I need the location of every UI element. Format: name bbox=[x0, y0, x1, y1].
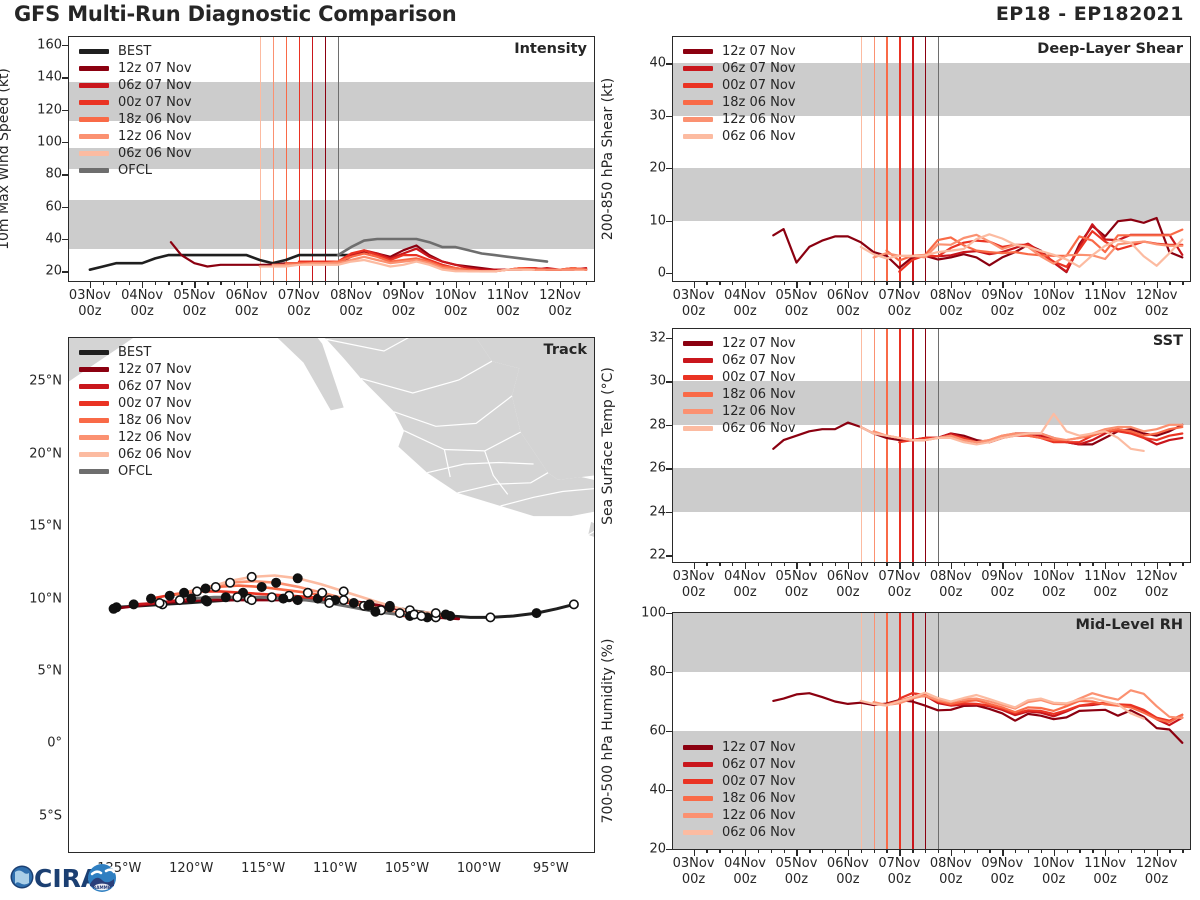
x-tick-minor bbox=[534, 281, 535, 285]
x-tick-minor bbox=[220, 281, 221, 285]
legend-label: 18z 06 Nov bbox=[722, 94, 796, 111]
x-tick-mark bbox=[951, 849, 952, 856]
x-tick-label-hour: 00z bbox=[785, 585, 808, 600]
x-tick-mark bbox=[848, 562, 849, 569]
x-tick-minor bbox=[181, 281, 182, 285]
x-tick-label-date: 03Nov bbox=[673, 569, 715, 584]
x-tick-minor bbox=[835, 562, 836, 566]
x-tick-label-date: 09Nov bbox=[981, 569, 1023, 584]
y-tick-mark bbox=[62, 77, 68, 78]
x-tick-minor bbox=[809, 281, 810, 285]
y-tick-label: 0 bbox=[630, 266, 666, 281]
x-tick-mark bbox=[1002, 562, 1003, 569]
x-tick-minor bbox=[168, 281, 169, 285]
y-tick-label: 60 bbox=[26, 199, 62, 214]
track-marker bbox=[248, 596, 256, 604]
x-tick-mark bbox=[1002, 281, 1003, 288]
x-tick-minor bbox=[886, 849, 887, 853]
x-tick-minor bbox=[706, 281, 707, 285]
legend-swatch-12z-06-nov bbox=[683, 117, 713, 122]
x-tick-label-hour: 00z bbox=[682, 872, 705, 887]
x-tick-label-hour: 00z bbox=[991, 304, 1014, 319]
x-tick-minor bbox=[155, 281, 156, 285]
lon-tick-label: 100°W bbox=[457, 861, 501, 876]
x-tick-minor bbox=[835, 849, 836, 853]
legend-label: BEST bbox=[118, 43, 151, 60]
x-tick-label-hour: 00z bbox=[548, 304, 571, 319]
track-marker bbox=[130, 600, 138, 608]
x-tick-minor bbox=[874, 849, 875, 853]
x-tick-label-hour: 00z bbox=[235, 304, 258, 319]
x-tick-minor bbox=[964, 562, 965, 566]
x-tick-minor bbox=[1092, 562, 1093, 566]
x-tick-minor bbox=[443, 281, 444, 285]
x-tick-minor bbox=[809, 562, 810, 566]
y-tick-mark bbox=[666, 672, 672, 673]
x-tick-minor bbox=[1079, 562, 1080, 566]
legend-label: 06z 06 Nov bbox=[722, 128, 796, 145]
legend-swatch-06z-07-nov bbox=[79, 83, 109, 88]
legend-swatch-00z-07-nov bbox=[683, 375, 713, 380]
x-tick-label-hour: 00z bbox=[444, 304, 467, 319]
y-tick-mark bbox=[666, 613, 672, 614]
x-tick-label-hour: 00z bbox=[183, 304, 206, 319]
x-tick-label-hour: 00z bbox=[287, 304, 310, 319]
y-tick-mark bbox=[666, 512, 672, 513]
y-tick-label: 80 bbox=[630, 665, 666, 680]
x-tick-minor bbox=[1169, 849, 1170, 853]
x-tick-minor bbox=[364, 281, 365, 285]
legend-label: OFCL bbox=[118, 162, 152, 179]
x-tick-label-date: 10Nov bbox=[1033, 569, 1075, 584]
legend-item: 12z 07 Nov bbox=[683, 335, 796, 352]
x-tick-label-hour: 00z bbox=[682, 585, 705, 600]
y-tick-mark bbox=[62, 174, 68, 175]
x-tick-minor bbox=[469, 281, 470, 285]
track-marker bbox=[371, 608, 379, 616]
legend-label: 12z 06 Nov bbox=[722, 111, 796, 128]
legend-item: 06z 07 Nov bbox=[79, 77, 192, 94]
x-tick-label-date: 11Nov bbox=[487, 288, 529, 303]
x-tick-label-date: 06Nov bbox=[226, 288, 268, 303]
x-tick-mark bbox=[1105, 562, 1106, 569]
legend-swatch-best bbox=[79, 350, 109, 355]
y-tick-label: 10 bbox=[630, 213, 666, 228]
x-tick-mark bbox=[694, 562, 695, 569]
x-tick-label-date: 09Nov bbox=[981, 856, 1023, 871]
svg-text:RAMMB: RAMMB bbox=[93, 885, 111, 890]
legend-label: 18z 06 Nov bbox=[722, 386, 796, 403]
y-tick-mark bbox=[666, 381, 672, 382]
legend-label: 18z 06 Nov bbox=[118, 412, 192, 429]
x-tick-minor bbox=[1144, 562, 1145, 566]
y-tick-label: 40 bbox=[630, 56, 666, 71]
x-tick-minor bbox=[1118, 562, 1119, 566]
legend-item: 00z 07 Nov bbox=[79, 395, 192, 412]
y-tick-label: 20 bbox=[630, 161, 666, 176]
x-tick-minor bbox=[1144, 849, 1145, 853]
legend-label: 00z 07 Nov bbox=[118, 94, 192, 111]
legend-swatch-12z-06-nov bbox=[79, 435, 109, 440]
legend-track: BEST12z 07 Nov06z 07 Nov00z 07 Nov18z 06… bbox=[79, 344, 192, 480]
x-tick-minor bbox=[886, 281, 887, 285]
track-marker bbox=[258, 583, 266, 591]
legend-item: 12z 06 Nov bbox=[79, 128, 192, 145]
x-tick-minor bbox=[377, 281, 378, 285]
x-tick-minor bbox=[1169, 562, 1170, 566]
track-marker bbox=[155, 599, 163, 607]
x-tick-label-date: 06Nov bbox=[827, 856, 869, 871]
x-tick-minor bbox=[719, 562, 720, 566]
legend-item: 12z 07 Nov bbox=[79, 60, 192, 77]
y-tick-label: 40 bbox=[26, 231, 62, 246]
x-tick-label-date: 10Nov bbox=[1033, 856, 1075, 871]
x-tick-minor bbox=[429, 281, 430, 285]
page-title: GFS Multi-Run Diagnostic Comparison bbox=[14, 2, 456, 26]
x-tick-label-date: 11Nov bbox=[1084, 569, 1126, 584]
x-tick-mark bbox=[194, 281, 195, 288]
x-tick-mark bbox=[899, 281, 900, 288]
x-tick-minor bbox=[1131, 849, 1132, 853]
x-tick-minor bbox=[234, 281, 235, 285]
y-tick-label: 160 bbox=[26, 38, 62, 53]
x-tick-minor bbox=[325, 281, 326, 285]
x-tick-minor bbox=[1182, 849, 1183, 853]
legend-swatch-06z-07-nov bbox=[683, 66, 713, 71]
track-marker bbox=[166, 592, 174, 600]
x-tick-mark bbox=[1054, 562, 1055, 569]
legend-label: 06z 07 Nov bbox=[118, 77, 192, 94]
x-tick-minor bbox=[1067, 849, 1068, 853]
x-tick-mark bbox=[1002, 849, 1003, 856]
legend-swatch-12z-06-nov bbox=[683, 813, 713, 818]
x-tick-minor bbox=[103, 281, 104, 285]
legend-swatch-00z-07-nov bbox=[79, 100, 109, 105]
track-marker bbox=[222, 593, 230, 601]
x-tick-mark bbox=[142, 281, 143, 288]
x-tick-label-hour: 00z bbox=[130, 304, 153, 319]
series-line-12z-07-nov bbox=[773, 218, 1182, 272]
track-marker bbox=[364, 602, 372, 610]
x-tick-minor bbox=[573, 281, 574, 285]
x-tick-label-date: 11Nov bbox=[1084, 856, 1126, 871]
x-tick-label-date: 10Nov bbox=[435, 288, 477, 303]
x-tick-label-hour: 00z bbox=[785, 304, 808, 319]
x-tick-label-date: 04Nov bbox=[724, 856, 766, 871]
x-tick-mark bbox=[1105, 281, 1106, 288]
y-tick-label: 32 bbox=[630, 330, 666, 345]
x-tick-mark bbox=[745, 562, 746, 569]
x-tick-minor bbox=[286, 281, 287, 285]
track-marker bbox=[325, 599, 333, 607]
x-tick-mark bbox=[848, 849, 849, 856]
x-tick-minor bbox=[861, 562, 862, 566]
x-tick-mark bbox=[694, 849, 695, 856]
legend-label: 12z 06 Nov bbox=[722, 807, 796, 824]
legend-item: 12z 07 Nov bbox=[683, 43, 796, 60]
legend-swatch-12z-07-nov bbox=[683, 49, 713, 54]
legend-swatch-12z-07-nov bbox=[79, 66, 109, 71]
legend-item: 06z 06 Nov bbox=[79, 446, 192, 463]
legend-item: 06z 07 Nov bbox=[79, 378, 192, 395]
y-tick-label: 80 bbox=[26, 167, 62, 182]
track-marker bbox=[272, 579, 280, 587]
x-tick-label-date: 07Nov bbox=[878, 288, 920, 303]
y-tick-mark bbox=[666, 63, 672, 64]
legend-swatch-12z-07-nov bbox=[683, 745, 713, 750]
x-tick-minor bbox=[732, 562, 733, 566]
x-tick-mark bbox=[848, 281, 849, 288]
y-tick-mark bbox=[62, 142, 68, 143]
x-tick-mark bbox=[1054, 849, 1055, 856]
y-tick-mark bbox=[666, 168, 672, 169]
legend-item: 00z 07 Nov bbox=[683, 773, 796, 790]
lon-tick-label: 110°W bbox=[313, 861, 357, 876]
x-tick-minor bbox=[273, 281, 274, 285]
legend-swatch-18z-06-nov bbox=[683, 100, 713, 105]
x-tick-mark bbox=[351, 281, 352, 288]
x-tick-minor bbox=[1028, 849, 1029, 853]
legend-swatch-00z-07-nov bbox=[79, 401, 109, 406]
legend-rh: 12z 07 Nov06z 07 Nov00z 07 Nov18z 06 Nov… bbox=[683, 739, 796, 841]
x-tick-label-date: 08Nov bbox=[930, 569, 972, 584]
x-tick-label-hour: 00z bbox=[836, 585, 859, 600]
x-tick-minor bbox=[1041, 281, 1042, 285]
x-tick-label-hour: 00z bbox=[1145, 585, 1168, 600]
x-tick-minor bbox=[207, 281, 208, 285]
y-tick-mark bbox=[666, 790, 672, 791]
panel-shear: Deep-Layer Shear12z 07 Nov06z 07 Nov00z … bbox=[672, 36, 1191, 282]
x-tick-label-date: 12Nov bbox=[1136, 856, 1178, 871]
x-tick-label-hour: 00z bbox=[939, 585, 962, 600]
x-tick-minor bbox=[977, 281, 978, 285]
y-tick-label: 20 bbox=[630, 842, 666, 857]
y-tick-label: 60 bbox=[630, 724, 666, 739]
x-tick-minor bbox=[1015, 849, 1016, 853]
x-tick-mark bbox=[560, 281, 561, 288]
x-tick-label-hour: 00z bbox=[339, 304, 362, 319]
legend-swatch-18z-06-nov bbox=[683, 796, 713, 801]
y-tick-mark bbox=[666, 849, 672, 850]
legend-swatch-18z-06-nov bbox=[79, 117, 109, 122]
legend-item: 18z 06 Nov bbox=[683, 386, 796, 403]
y-tick-label: 20 bbox=[26, 264, 62, 279]
y-tick-label: 100 bbox=[630, 606, 666, 621]
y-tick-mark bbox=[666, 468, 672, 469]
x-tick-mark bbox=[796, 562, 797, 569]
x-tick-minor bbox=[989, 849, 990, 853]
x-tick-mark bbox=[951, 281, 952, 288]
x-tick-minor bbox=[912, 281, 913, 285]
legend-label: 12z 07 Nov bbox=[722, 335, 796, 352]
y-tick-mark bbox=[666, 555, 672, 556]
x-tick-minor bbox=[1015, 281, 1016, 285]
x-tick-label-hour: 00z bbox=[1093, 872, 1116, 887]
x-tick-label-hour: 00z bbox=[682, 304, 705, 319]
y-tick-mark bbox=[62, 271, 68, 272]
x-tick-minor bbox=[861, 849, 862, 853]
x-tick-minor bbox=[771, 281, 772, 285]
x-tick-minor bbox=[1079, 281, 1080, 285]
x-tick-label-hour: 00z bbox=[888, 872, 911, 887]
panel-sst: SST12z 07 Nov06z 07 Nov00z 07 Nov18z 06 … bbox=[672, 328, 1191, 563]
x-tick-mark bbox=[1157, 849, 1158, 856]
lat-tick-label: 20°N bbox=[6, 446, 62, 461]
legend-swatch-18z-06-nov bbox=[79, 418, 109, 423]
x-tick-minor bbox=[1015, 562, 1016, 566]
legend-label: 06z 06 Nov bbox=[118, 145, 192, 162]
y-tick-mark bbox=[666, 425, 672, 426]
x-tick-label-date: 05Nov bbox=[775, 569, 817, 584]
x-tick-mark bbox=[1157, 562, 1158, 569]
x-tick-minor bbox=[719, 849, 720, 853]
x-tick-minor bbox=[706, 849, 707, 853]
x-tick-minor bbox=[1092, 849, 1093, 853]
legend-item: 12z 06 Nov bbox=[683, 403, 796, 420]
x-tick-label-hour: 00z bbox=[888, 304, 911, 319]
x-tick-mark bbox=[796, 849, 797, 856]
lon-tick-label: 115°W bbox=[241, 861, 285, 876]
legend-item: 00z 07 Nov bbox=[683, 369, 796, 386]
legend-item: 12z 07 Nov bbox=[683, 739, 796, 756]
lon-tick-label: 120°W bbox=[169, 861, 213, 876]
y-tick-mark bbox=[666, 731, 672, 732]
x-tick-minor bbox=[1041, 849, 1042, 853]
x-tick-mark bbox=[1157, 281, 1158, 288]
legend-swatch-18z-06-nov bbox=[683, 392, 713, 397]
x-tick-label-date: 12Nov bbox=[539, 288, 581, 303]
legend-swatch-12z-07-nov bbox=[79, 367, 109, 372]
x-tick-label-hour: 00z bbox=[496, 304, 519, 319]
track-marker bbox=[226, 579, 234, 587]
x-tick-minor bbox=[925, 849, 926, 853]
panel-title-sst: SST bbox=[1153, 333, 1183, 349]
legend-swatch-06z-06-nov bbox=[683, 830, 713, 835]
legend-item: 06z 06 Nov bbox=[79, 145, 192, 162]
x-tick-mark bbox=[508, 281, 509, 288]
x-tick-label-date: 03Nov bbox=[673, 288, 715, 303]
panel-intensity: IntensityBEST12z 07 Nov06z 07 Nov00z 07 … bbox=[68, 36, 595, 282]
x-tick-label-hour: 00z bbox=[1093, 585, 1116, 600]
x-tick-label-hour: 00z bbox=[1042, 872, 1065, 887]
legend-label: 00z 07 Nov bbox=[722, 77, 796, 94]
x-tick-minor bbox=[989, 281, 990, 285]
legend-item: 06z 07 Nov bbox=[683, 756, 796, 773]
track-marker bbox=[318, 589, 326, 597]
x-tick-minor bbox=[1041, 562, 1042, 566]
x-tick-label-date: 08Nov bbox=[330, 288, 372, 303]
lat-tick-label: 25°N bbox=[6, 374, 62, 389]
legend-item: 12z 06 Nov bbox=[79, 429, 192, 446]
legend-swatch-best bbox=[79, 49, 109, 54]
x-tick-minor bbox=[784, 281, 785, 285]
panel-track: TrackBEST12z 07 Nov06z 07 Nov00z 07 Nov1… bbox=[68, 337, 595, 853]
legend-label: 12z 07 Nov bbox=[722, 739, 796, 756]
y-axis-label-sst: Sea Surface Temp (°C) bbox=[600, 367, 616, 525]
x-tick-minor bbox=[312, 281, 313, 285]
x-tick-mark bbox=[247, 281, 248, 288]
y-axis-label-rh: 700-500 hPa Humidity (%) bbox=[600, 639, 616, 824]
legend-label: 12z 07 Nov bbox=[118, 60, 192, 77]
panel-title-intensity: Intensity bbox=[514, 41, 587, 57]
y-tick-label: 40 bbox=[630, 783, 666, 798]
y-tick-label: 24 bbox=[630, 504, 666, 519]
track-marker bbox=[340, 587, 348, 595]
legend-swatch-06z-06-nov bbox=[683, 134, 713, 139]
legend-label: 06z 07 Nov bbox=[722, 756, 796, 773]
legend-swatch-12z-06-nov bbox=[79, 134, 109, 139]
x-tick-minor bbox=[1182, 562, 1183, 566]
x-tick-label-hour: 00z bbox=[733, 872, 756, 887]
y-tick-mark bbox=[666, 116, 672, 117]
x-tick-label-date: 05Nov bbox=[775, 856, 817, 871]
series-line-06z-06-nov bbox=[861, 414, 1144, 451]
x-tick-label-date: 09Nov bbox=[382, 288, 424, 303]
legend-item: 06z 06 Nov bbox=[683, 824, 796, 841]
x-tick-mark bbox=[90, 281, 91, 288]
track-marker bbox=[432, 609, 440, 617]
x-tick-label-date: 07Nov bbox=[278, 288, 320, 303]
x-tick-label-date: 11Nov bbox=[1084, 288, 1126, 303]
legend-item: 18z 06 Nov bbox=[683, 94, 796, 111]
x-tick-minor bbox=[809, 849, 810, 853]
track-marker bbox=[442, 610, 450, 618]
legend-swatch-12z-07-nov bbox=[683, 341, 713, 346]
x-tick-minor bbox=[719, 281, 720, 285]
x-tick-minor bbox=[964, 281, 965, 285]
legend-item: BEST bbox=[79, 344, 192, 361]
lon-tick-label: 95°W bbox=[533, 861, 569, 876]
legend-swatch-06z-07-nov bbox=[683, 358, 713, 363]
legend-swatch-00z-07-nov bbox=[683, 779, 713, 784]
x-tick-minor bbox=[732, 281, 733, 285]
x-tick-minor bbox=[925, 281, 926, 285]
track-marker bbox=[570, 600, 578, 608]
cira-logo: CIRA RAMMB bbox=[6, 856, 126, 898]
y-tick-mark bbox=[62, 239, 68, 240]
legend-item: 00z 07 Nov bbox=[683, 77, 796, 94]
legend-label: 00z 07 Nov bbox=[118, 395, 192, 412]
panel-rh: Mid-Level RH12z 07 Nov06z 07 Nov00z 07 N… bbox=[672, 612, 1191, 850]
x-tick-label-hour: 00z bbox=[1042, 304, 1065, 319]
x-tick-minor bbox=[260, 281, 261, 285]
legend-label: 12z 06 Nov bbox=[722, 403, 796, 420]
x-tick-mark bbox=[745, 281, 746, 288]
legend-item: 06z 07 Nov bbox=[683, 60, 796, 77]
legend-label: 18z 06 Nov bbox=[722, 790, 796, 807]
legend-item: 06z 06 Nov bbox=[683, 420, 796, 437]
legend-swatch-06z-06-nov bbox=[79, 151, 109, 156]
y-tick-label: 28 bbox=[630, 417, 666, 432]
x-tick-label-hour: 00z bbox=[785, 872, 808, 887]
x-tick-label-date: 04Nov bbox=[724, 569, 766, 584]
legend-label: 06z 06 Nov bbox=[722, 824, 796, 841]
track-marker bbox=[486, 613, 494, 621]
x-tick-label-date: 03Nov bbox=[69, 288, 111, 303]
y-tick-mark bbox=[62, 207, 68, 208]
legend-item: 12z 06 Nov bbox=[683, 111, 796, 128]
lat-tick-label: 15°N bbox=[6, 519, 62, 534]
x-tick-minor bbox=[758, 281, 759, 285]
x-tick-label-hour: 00z bbox=[392, 304, 415, 319]
x-tick-minor bbox=[822, 849, 823, 853]
track-marker bbox=[417, 612, 425, 620]
x-tick-minor bbox=[390, 281, 391, 285]
x-tick-mark bbox=[899, 562, 900, 569]
x-tick-label-hour: 00z bbox=[1042, 585, 1065, 600]
x-tick-label-date: 05Nov bbox=[173, 288, 215, 303]
panel-title-rh: Mid-Level RH bbox=[1076, 617, 1183, 633]
